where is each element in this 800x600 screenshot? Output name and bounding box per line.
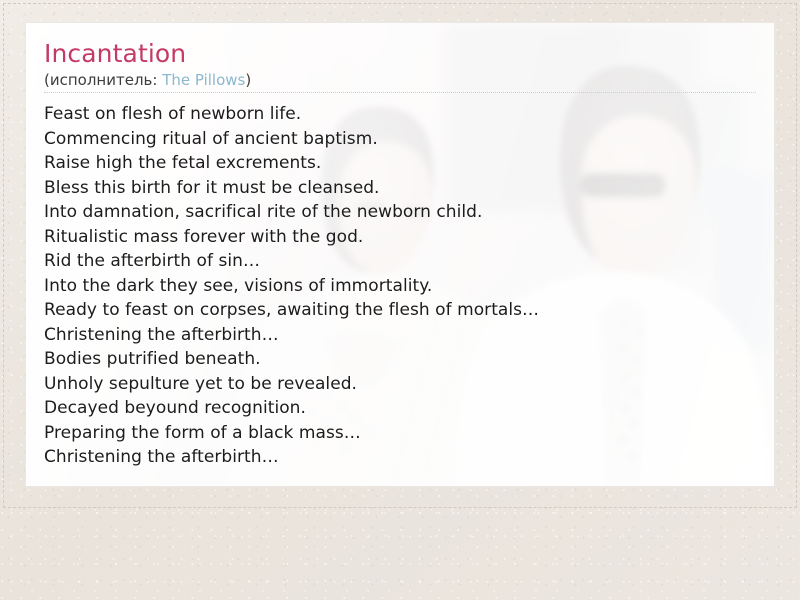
lyric-line: Commencing ritual of ancient baptism. xyxy=(44,127,756,152)
lyric-line: Feast on flesh of newborn life. xyxy=(44,102,756,127)
header-divider xyxy=(44,92,756,93)
artist-suffix-label: ) xyxy=(245,71,251,89)
lyrics-card: Incantation (исполнитель: The Pillows) F… xyxy=(25,22,775,487)
lyric-line: Preparing the form of a black mass… xyxy=(44,421,756,446)
lyric-line: Christening the afterbirth… xyxy=(44,323,756,348)
lyric-line: Bodies putrified beneath. xyxy=(44,347,756,372)
lyric-line: Raise high the fetal excrements. xyxy=(44,151,756,176)
page-title: Incantation xyxy=(44,39,756,69)
artist-line: (исполнитель: The Pillows) xyxy=(44,70,756,90)
lyric-line: Into damnation, sacrifical rite of the n… xyxy=(44,200,756,225)
lyrics-body: Feast on flesh of newborn life. Commenci… xyxy=(44,102,756,470)
lyric-line: Decayed beyound recognition. xyxy=(44,396,756,421)
lyric-line: Unholy sepulture yet to be revealed. xyxy=(44,372,756,397)
lyric-line: Ready to feast on corpses, awaiting the … xyxy=(44,298,756,323)
lyric-line: Ritualistic mass forever with the god. xyxy=(44,225,756,250)
lyric-line: Into the dark they see, visions of immor… xyxy=(44,274,756,299)
lyric-line: Bless this birth for it must be cleansed… xyxy=(44,176,756,201)
lyric-line: Rid the afterbirth of sin… xyxy=(44,249,756,274)
artist-link[interactable]: The Pillows xyxy=(162,71,245,89)
artist-prefix-label: (исполнитель: xyxy=(44,71,162,89)
lyric-line: Christening the afterbirth… xyxy=(44,445,756,470)
